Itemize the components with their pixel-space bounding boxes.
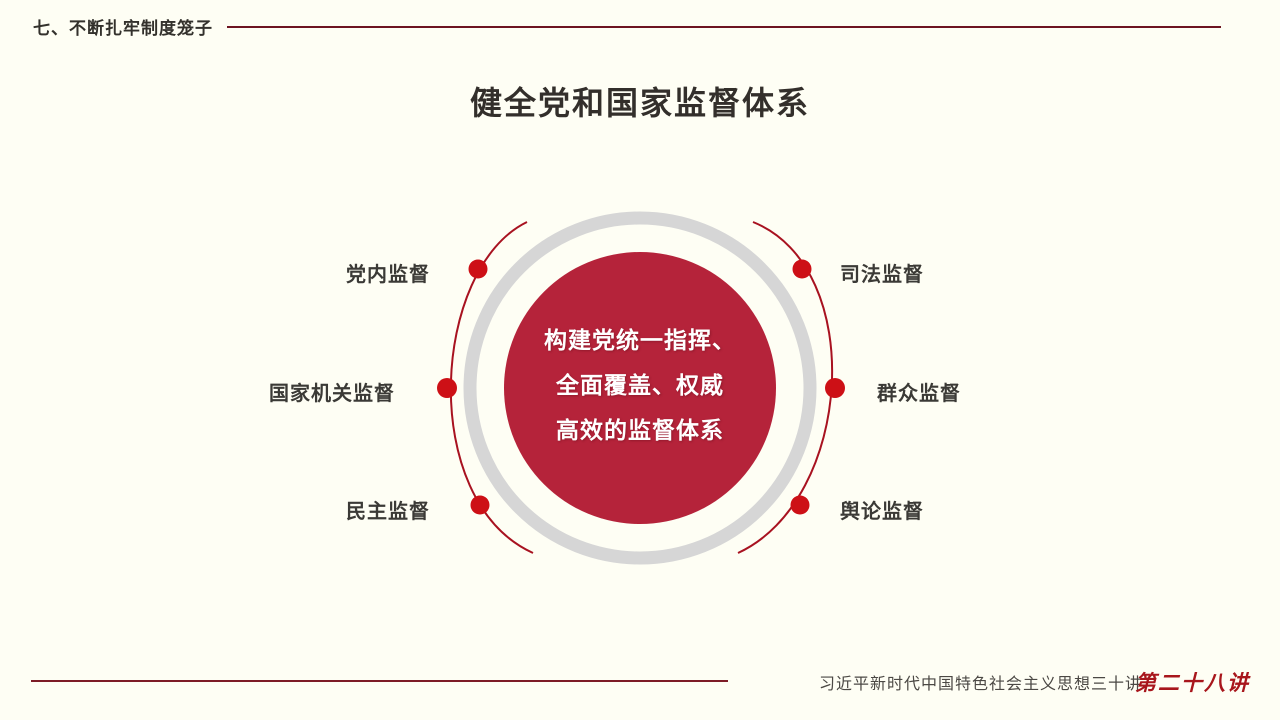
node-dot-state-organ[interactable] [437,378,457,398]
node-label-party-internal[interactable]: 党内监督 [60,258,430,287]
footer-book-title: 习近平新时代中国特色社会主义思想三十讲 [819,670,1142,694]
node-dot-party-internal[interactable] [469,260,488,279]
node-label-democratic[interactable]: 民主监督 [60,495,430,524]
node-label-mass[interactable]: 群众监督 [877,377,1257,406]
supervision-system-diagram: 构建党统一指挥、 全面覆盖、权威 高效的监督体系 党内监督 国家机关监督 民主监… [0,0,1280,720]
core-statement-line-3: 高效的监督体系 [505,408,775,453]
core-statement-line-2: 全面覆盖、权威 [505,363,775,408]
footer-divider [31,680,728,682]
node-dot-mass[interactable] [825,378,845,398]
node-label-state-organ[interactable]: 国家机关监督 [60,377,395,406]
core-statement-line-1: 构建党统一指挥、 [505,318,775,363]
node-label-public-opinion[interactable]: 舆论监督 [840,495,1220,524]
slide-footer: 习近平新时代中国特色社会主义思想三十讲 第二十八讲 [0,660,1280,720]
node-dot-public-opinion[interactable] [791,496,810,515]
node-label-judicial[interactable]: 司法监督 [840,258,1220,287]
node-dot-democratic[interactable] [471,496,490,515]
node-dot-judicial[interactable] [793,260,812,279]
footer-lecture-number: 第二十八讲 [1135,667,1250,697]
core-statement: 构建党统一指挥、 全面覆盖、权威 高效的监督体系 [505,318,775,453]
